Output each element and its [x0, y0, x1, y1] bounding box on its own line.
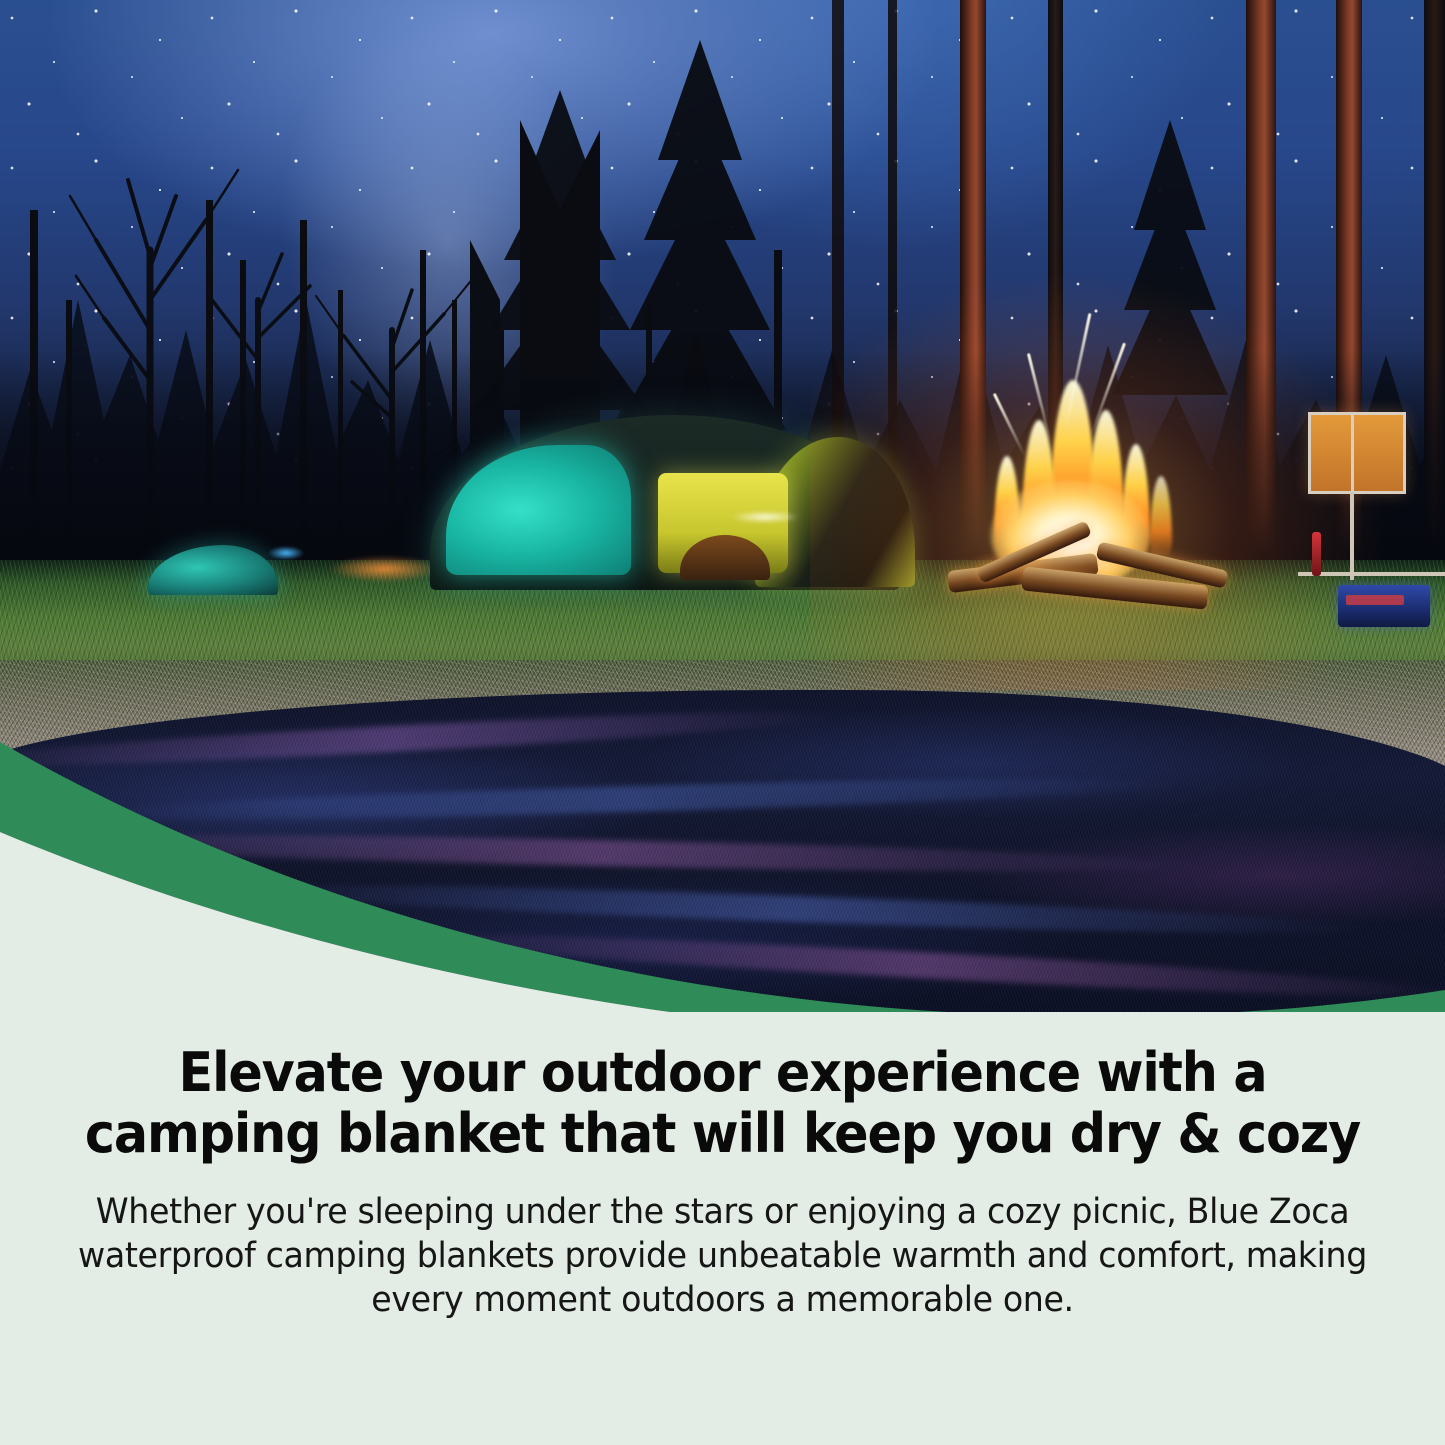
blue-cooler-bag — [1338, 585, 1430, 627]
body-copy: Whether you're sleeping under the stars … — [63, 1190, 1383, 1322]
green-curved-swoosh — [0, 690, 1445, 1050]
copy-block: Elevate your outdoor experience with a c… — [0, 1012, 1445, 1445]
swoosh-svg — [0, 690, 1445, 1050]
tent-light-glow — [730, 511, 800, 523]
trailhead-sign-board — [1308, 412, 1406, 494]
product-infographic-card: Elevate your outdoor experience with a c… — [0, 0, 1445, 1445]
red-marker-flag — [1312, 532, 1321, 576]
campfire — [930, 330, 1260, 630]
camp-gear-glow — [330, 556, 440, 582]
tent-teal-panel — [446, 445, 631, 575]
sign-post — [1350, 492, 1354, 580]
blue-lamp-glow — [268, 546, 304, 560]
headline: Elevate your outdoor experience with a c… — [70, 1042, 1376, 1164]
